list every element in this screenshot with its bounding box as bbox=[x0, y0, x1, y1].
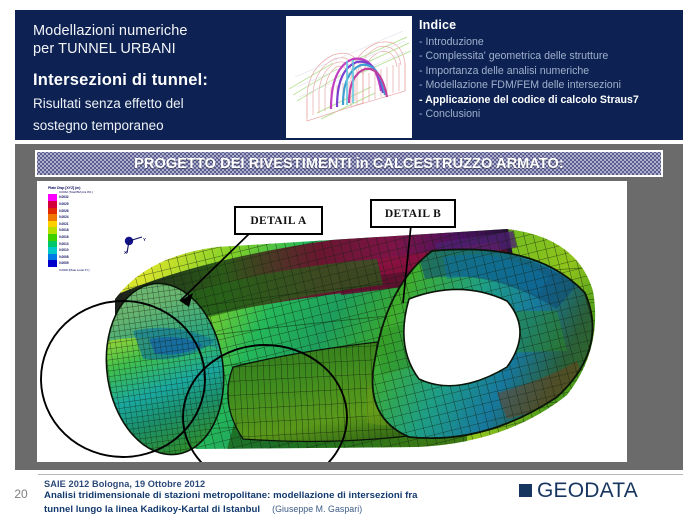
legend-row: 0.0029 bbox=[48, 201, 112, 208]
footer-divider bbox=[38, 474, 683, 475]
legend-swatch bbox=[48, 241, 57, 248]
header-title-block: Modellazioni numeriche per TUNNEL URBANI… bbox=[33, 22, 283, 134]
footer-title-line2: tunnel lungo la linea Kadikoy-Kartal di … bbox=[44, 504, 260, 515]
logo-square-icon bbox=[519, 484, 532, 497]
legend-rows: 0.0032 0.0029 0.0026 0.0024 0.0021 0.001… bbox=[48, 194, 112, 267]
index-item-applicazione[interactable]: - Applicazione del codice di calcolo Str… bbox=[419, 93, 674, 107]
footer-text-block: SAIE 2012 Bologna, 19 Ottobre 2012 Anali… bbox=[44, 478, 494, 516]
footer-title-line2-row: tunnel lungo la linea Kadikoy-Kartal di … bbox=[44, 503, 494, 517]
tunnel-model-thumbnail bbox=[286, 16, 412, 138]
index-item-introduzione[interactable]: - Introduzione bbox=[419, 35, 674, 49]
fem-figure: Plate Disp [XYZ] (m) 0.0032 (Total BM pl… bbox=[37, 181, 627, 462]
legend-row: 0.0010 bbox=[48, 247, 112, 254]
legend-row: 0.0018 bbox=[48, 227, 112, 234]
legend-row: 0.0024 bbox=[48, 214, 112, 221]
legend-swatch bbox=[48, 201, 57, 208]
legend-swatch bbox=[48, 194, 57, 201]
axis-label-y: Y bbox=[143, 237, 146, 242]
index-item-modellazione[interactable]: - Modellazione FDM/FEM delle intersezion… bbox=[419, 78, 674, 92]
legend-value: 0.0032 bbox=[59, 194, 68, 201]
legend-value: 0.0018 bbox=[59, 227, 68, 234]
axis-label-x: X bbox=[124, 250, 127, 255]
page-number: 20 bbox=[8, 487, 34, 501]
legend-swatch bbox=[48, 208, 57, 215]
index-title: Indice bbox=[419, 18, 674, 32]
callout-detail-b: DETAIL B bbox=[370, 199, 456, 228]
legend-row: 0.0008 bbox=[48, 254, 112, 261]
header-subtitle-strong: Intersezioni di tunnel: bbox=[33, 70, 283, 91]
index-item-importanza[interactable]: - Importanza delle analisi numeriche bbox=[419, 64, 674, 78]
legend-value: 0.0024 bbox=[59, 214, 68, 221]
section-title-bar: PROGETTO DEI RIVESTIMENTI in CALCESTRUZZ… bbox=[35, 150, 663, 177]
legend-value: 0.0026 bbox=[59, 208, 68, 215]
legend-value: 0.0010 bbox=[59, 247, 68, 254]
legend-swatch bbox=[48, 254, 57, 261]
legend-swatch bbox=[48, 214, 57, 221]
legend-value: 0.0013 bbox=[59, 241, 68, 248]
legend-value: 0.0016 bbox=[59, 234, 68, 241]
contour-legend: Plate Disp [XYZ] (m) 0.0032 (Total BM pl… bbox=[48, 186, 112, 272]
legend-value: 0.0008 bbox=[59, 254, 68, 261]
legend-row: 0.0013 bbox=[48, 241, 112, 248]
legend-swatch bbox=[48, 234, 57, 241]
index-item-conclusioni[interactable]: - Conclusioni bbox=[419, 107, 674, 121]
presentation-slide: Modellazioni numeriche per TUNNEL URBANI… bbox=[0, 0, 700, 525]
legend-footer: 0.0000 (Plate Local XY) bbox=[59, 268, 112, 272]
header-title-line2: per TUNNEL URBANI bbox=[33, 40, 283, 58]
index-block: Indice - Introduzione - Complessita' geo… bbox=[419, 18, 674, 121]
slide-header: Modellazioni numeriche per TUNNEL URBANI… bbox=[15, 10, 683, 140]
legend-swatch bbox=[48, 227, 57, 234]
legend-swatch bbox=[48, 221, 57, 228]
header-title-line1: Modellazioni numeriche bbox=[33, 22, 283, 40]
legend-row: 0.0016 bbox=[48, 234, 112, 241]
legend-row: 0.0005 bbox=[48, 260, 112, 267]
geodata-logo: GEODATA bbox=[519, 480, 638, 501]
logo-text: GEODATA bbox=[537, 480, 638, 501]
legend-value: 0.0005 bbox=[59, 260, 68, 267]
footer-event: SAIE 2012 Bologna, 19 Ottobre 2012 bbox=[44, 478, 494, 490]
section-title-text: PROGETTO DEI RIVESTIMENTI in CALCESTRUZZ… bbox=[134, 156, 564, 172]
legend-value: 0.0021 bbox=[59, 221, 68, 228]
legend-row: 0.0032 bbox=[48, 194, 112, 201]
legend-swatch bbox=[48, 247, 57, 254]
footer-author: (Giuseppe M. Gaspari) bbox=[260, 504, 362, 514]
footer-title-line1: Analisi tridimensionale di stazioni metr… bbox=[44, 490, 494, 503]
legend-row: 0.0026 bbox=[48, 208, 112, 215]
legend-value: 0.0029 bbox=[59, 201, 68, 208]
header-subtitle-line2: sostegno temporaneo bbox=[33, 117, 283, 135]
content-panel: PROGETTO DEI RIVESTIMENTI in CALCESTRUZZ… bbox=[15, 144, 683, 470]
header-subtitle-line1: Risultati senza effetto del bbox=[33, 95, 283, 113]
legend-row: 0.0021 bbox=[48, 221, 112, 228]
callout-detail-a: DETAIL A bbox=[234, 206, 323, 235]
legend-swatch bbox=[48, 260, 57, 267]
index-item-complessita[interactable]: - Complessita' geometrica delle struttur… bbox=[419, 49, 674, 63]
